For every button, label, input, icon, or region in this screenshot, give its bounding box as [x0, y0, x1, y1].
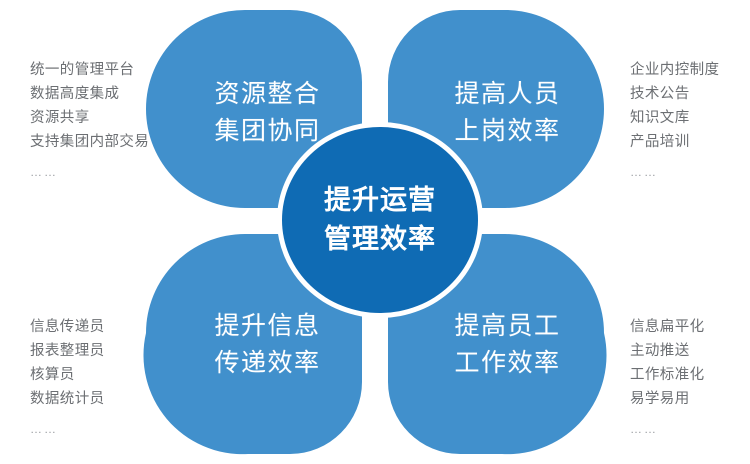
annotation-line: 报表整理员 — [30, 339, 105, 363]
petal-label-line: 上岗效率 — [420, 113, 595, 150]
center-hub-label: 提升运营 管理效率 — [324, 181, 436, 259]
annotation-bottom-left: 信息传递员 报表整理员 核算员 数据统计员 …… — [30, 315, 105, 441]
annotation-ellipsis: …… — [630, 154, 719, 184]
petal-label-line: 传递效率 — [180, 345, 355, 382]
petal-label-line: 提升信息 — [180, 308, 355, 345]
annotation-top-right: 企业内控制度 技术公告 知识文库 产品培训 …… — [630, 58, 719, 184]
center-label-line: 管理效率 — [324, 220, 436, 259]
annotation-bottom-right: 信息扁平化 主动推送 工作标准化 易学易用 …… — [630, 315, 705, 441]
petal-label-top-left: 资源整合 集团协同 — [180, 76, 355, 150]
annotation-line: 工作标准化 — [630, 363, 705, 387]
annotation-line: 知识文库 — [630, 106, 719, 130]
petal-label-bottom-left: 提升信息 传递效率 — [180, 308, 355, 382]
diagram-canvas: 资源整合 集团协同 提高人员 上岗效率 提升信息 传递效率 提高员工 工作效率 … — [0, 0, 750, 464]
annotation-ellipsis: …… — [30, 154, 149, 184]
annotation-line: 技术公告 — [630, 82, 719, 106]
annotation-line: 数据统计员 — [30, 387, 105, 411]
center-label-line: 提升运营 — [324, 181, 436, 220]
annotation-line: 主动推送 — [630, 339, 705, 363]
annotation-line: 产品培训 — [630, 130, 719, 154]
annotation-ellipsis: …… — [30, 411, 105, 441]
center-hub[interactable]: 提升运营 管理效率 — [282, 127, 478, 313]
annotation-top-left: 统一的管理平台 数据高度集成 资源共享 支持集团内部交易 …… — [30, 58, 149, 184]
petal-label-line: 提高员工 — [420, 308, 595, 345]
annotation-line: 企业内控制度 — [630, 58, 719, 82]
annotation-line: 信息扁平化 — [630, 315, 705, 339]
annotation-line: 支持集团内部交易 — [30, 130, 149, 154]
annotation-line: 资源共享 — [30, 106, 149, 130]
petal-label-top-right: 提高人员 上岗效率 — [420, 76, 595, 150]
petal-label-line: 工作效率 — [420, 345, 595, 382]
petal-label-line: 提高人员 — [420, 76, 595, 113]
annotation-line: 数据高度集成 — [30, 82, 149, 106]
annotation-ellipsis: …… — [630, 411, 705, 441]
petal-label-line: 资源整合 — [180, 76, 355, 113]
annotation-line: 信息传递员 — [30, 315, 105, 339]
annotation-line: 核算员 — [30, 363, 105, 387]
annotation-line: 统一的管理平台 — [30, 58, 149, 82]
petal-label-bottom-right: 提高员工 工作效率 — [420, 308, 595, 382]
annotation-line: 易学易用 — [630, 387, 705, 411]
